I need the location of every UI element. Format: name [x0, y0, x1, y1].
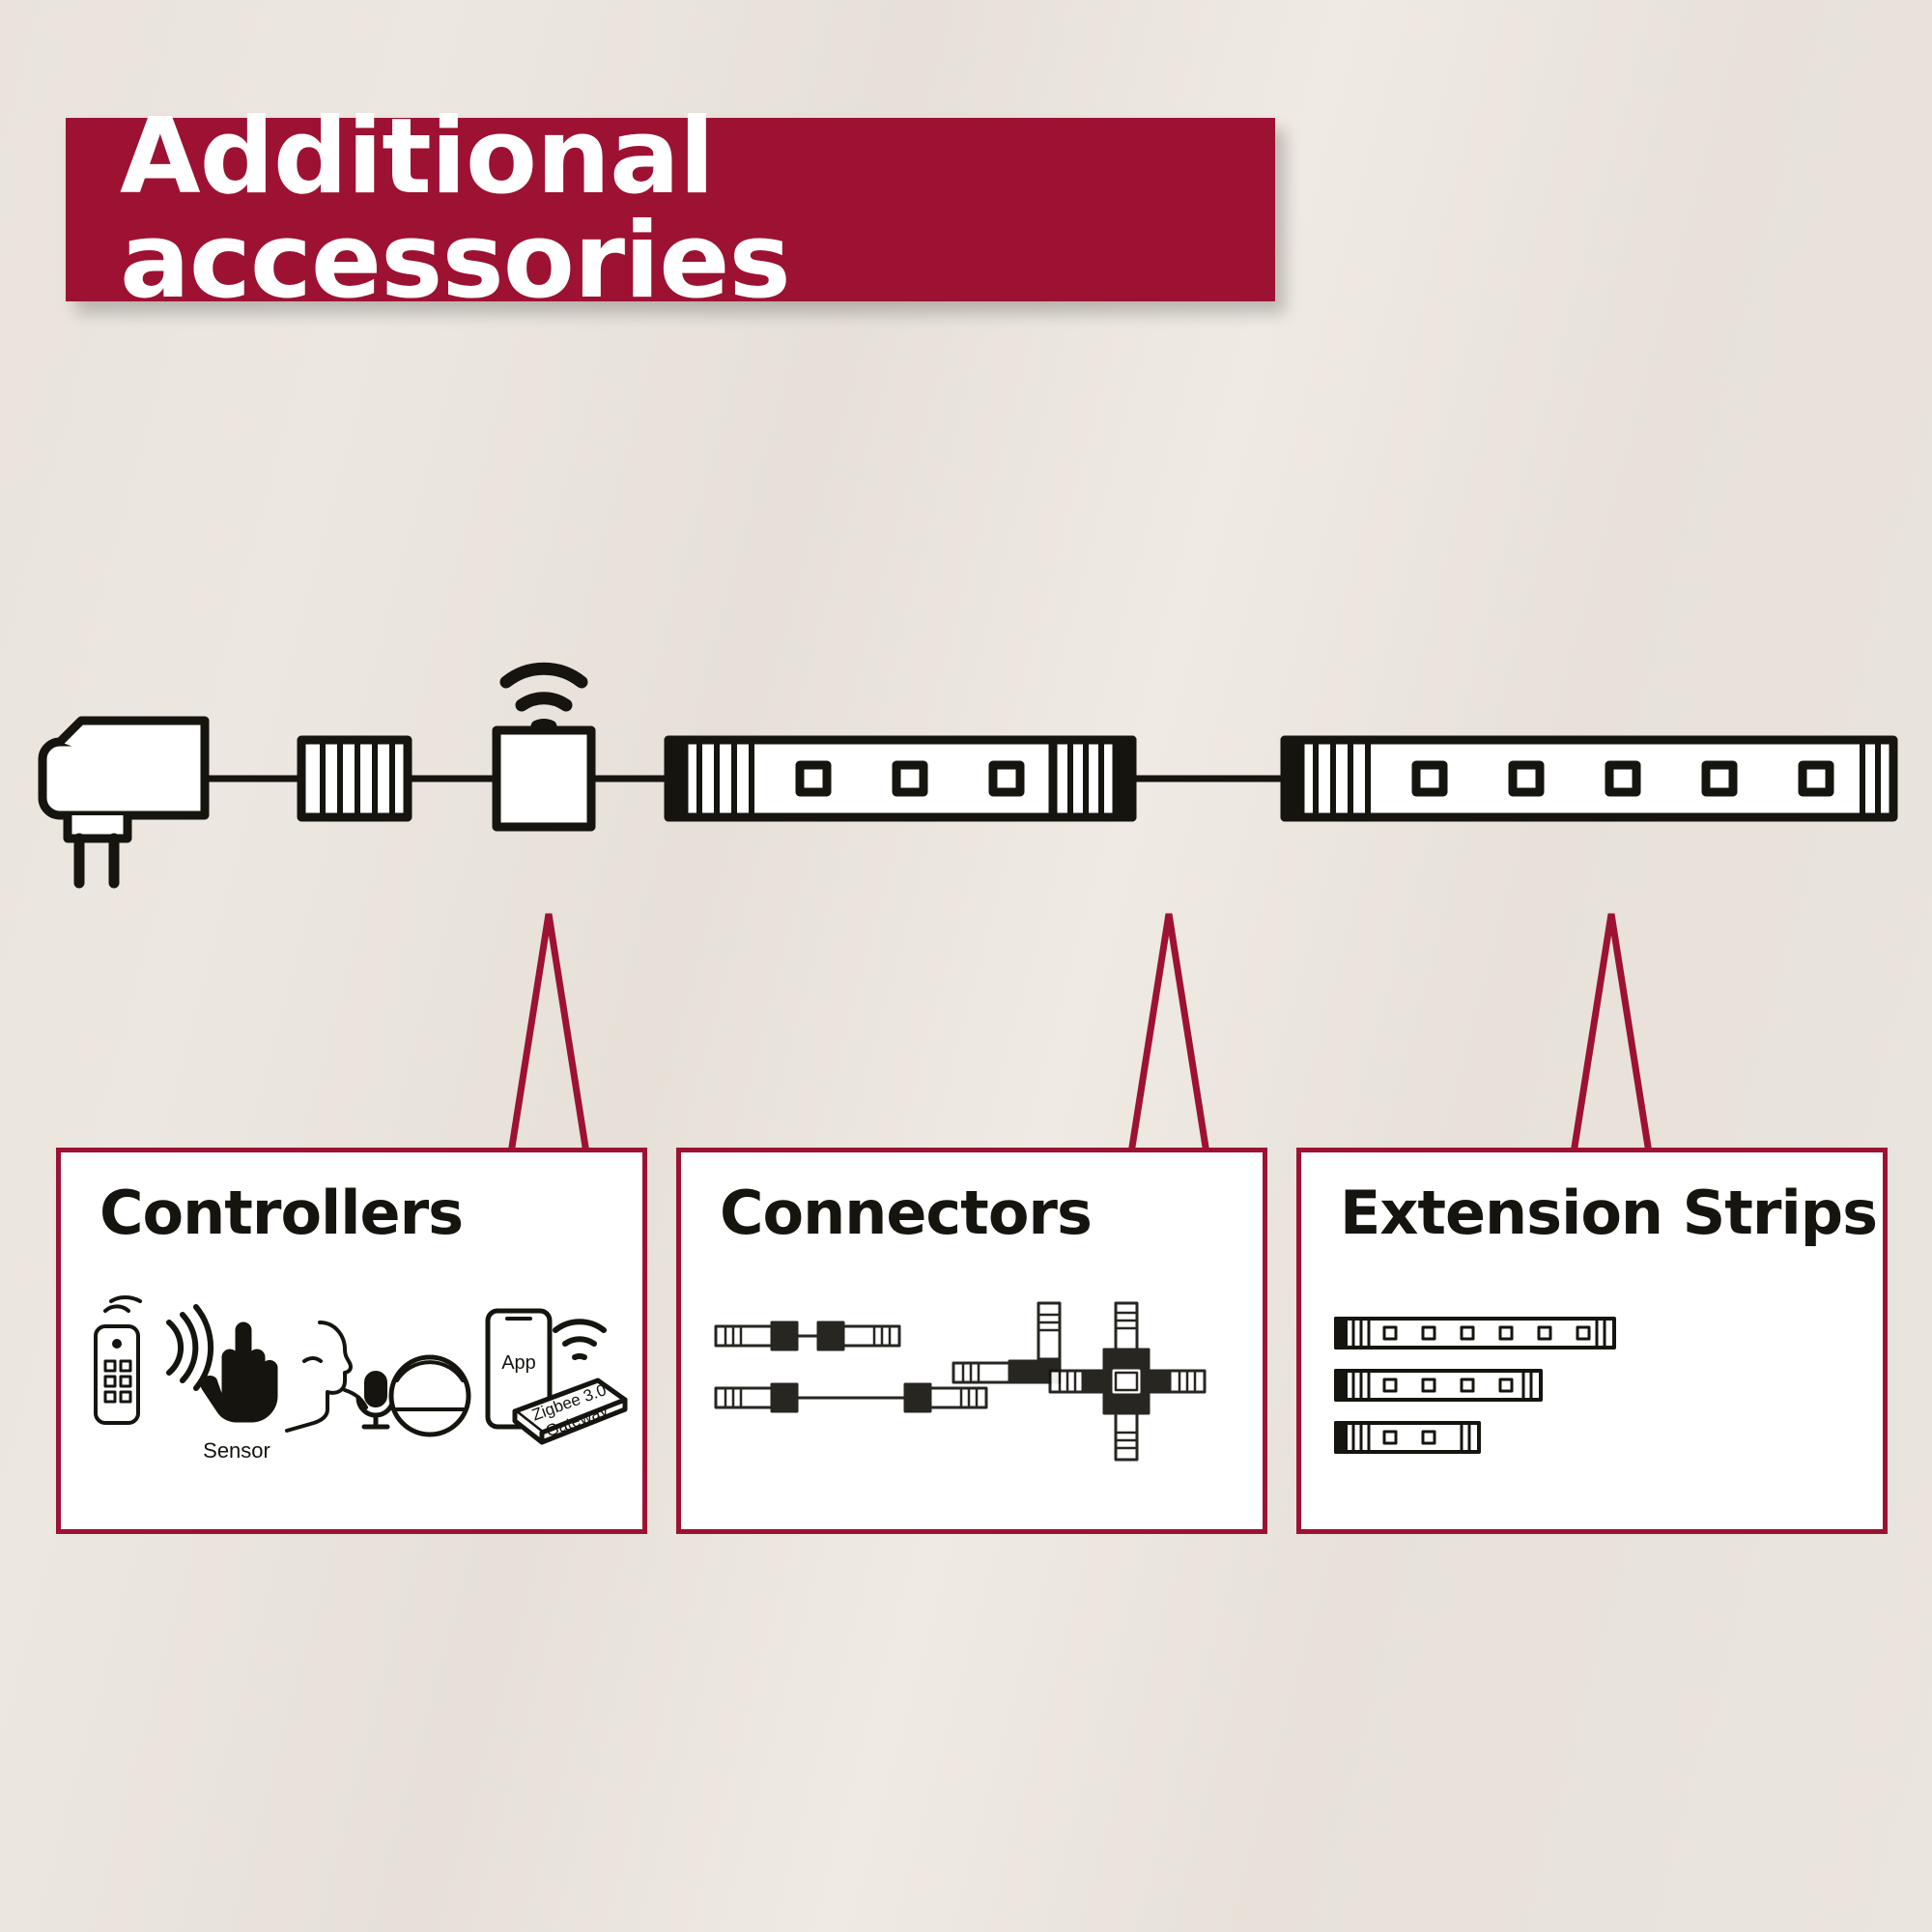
pointer-extension — [1573, 914, 1650, 1159]
led-strip-segment-2 — [1285, 740, 1893, 817]
gateway-wifi-icon — [555, 1321, 604, 1357]
card-extension-strips[interactable]: Extension Strips — [1296, 1148, 1888, 1534]
connector-block-1 — [301, 740, 408, 817]
cross-connector-icon — [1050, 1303, 1205, 1460]
app-label: App — [501, 1352, 536, 1374]
callout-pointers — [0, 889, 1932, 1169]
extension-strip-medium-icon — [1336, 1371, 1541, 1400]
power-supply-plug — [43, 721, 205, 883]
corner-connector-icon — [953, 1303, 1060, 1382]
title-banner: Additional accessories — [66, 118, 1275, 301]
sensor-label: Sensor — [203, 1438, 270, 1463]
card-title-connectors: Connectors — [720, 1178, 1092, 1248]
card-controllers[interactable]: Controllers — [56, 1148, 647, 1534]
extension-strip-short-icon — [1336, 1423, 1479, 1452]
strip-to-strip-cable-connector-icon — [716, 1322, 986, 1411]
voice-assistant-icon — [287, 1322, 469, 1435]
page-title: Additional accessories — [66, 105, 1275, 314]
system-chain-diagram — [0, 618, 1932, 908]
pointer-controllers — [510, 914, 587, 1159]
card-body-controllers: Sensor — [61, 1288, 642, 1529]
card-body-extension — [1301, 1288, 1883, 1529]
motion-sensor-hand-icon — [169, 1307, 276, 1421]
card-title-extension: Extension Strips — [1340, 1178, 1877, 1248]
poster-stage: Additional accessories — [0, 0, 1932, 1932]
card-body-connectors — [681, 1288, 1263, 1529]
wifi-controller-box — [497, 730, 591, 827]
card-title-controllers: Controllers — [99, 1178, 463, 1248]
pointer-connectors — [1130, 914, 1207, 1159]
remote-control-icon — [96, 1297, 140, 1423]
extension-strip-long-icon — [1336, 1319, 1614, 1348]
strip-connector-joint — [1053, 740, 1132, 817]
card-connectors[interactable]: Connectors — [676, 1148, 1267, 1534]
wifi-signal-icon — [506, 668, 582, 726]
